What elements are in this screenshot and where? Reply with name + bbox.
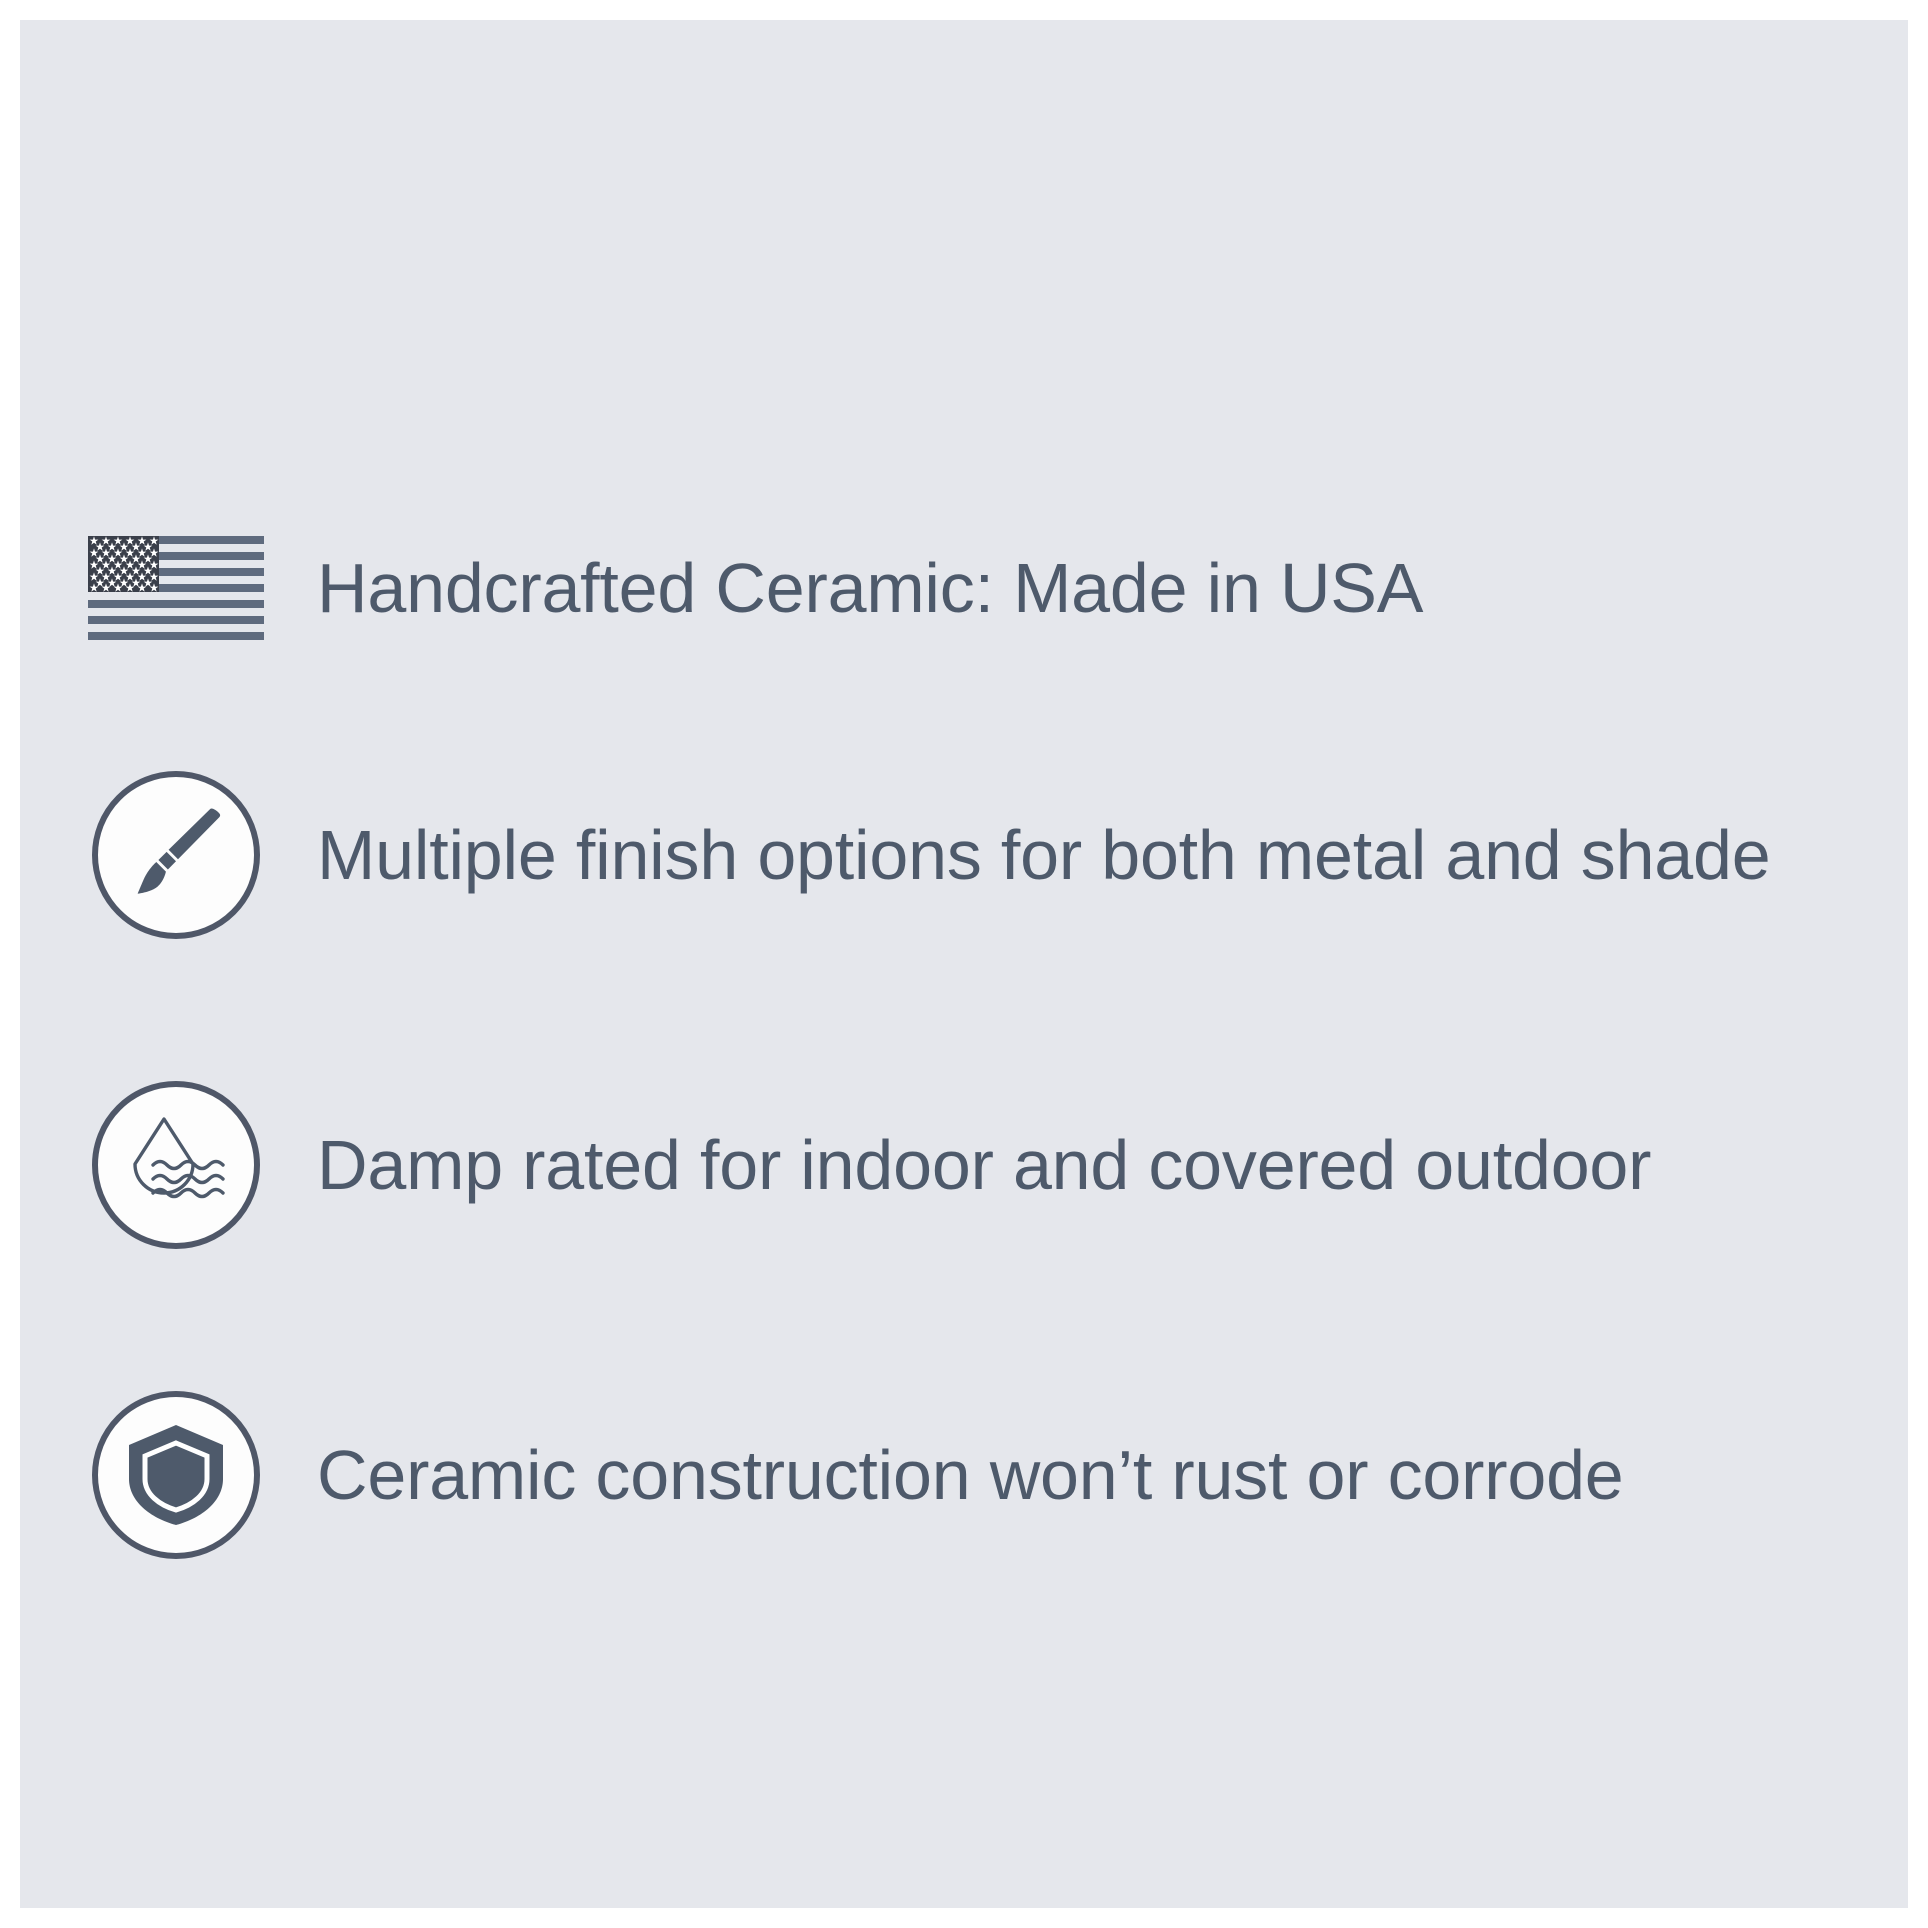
feature-row-made-in-usa: Handcrafted Ceramic: Made in USA: [20, 503, 1908, 673]
feature-row-finish-options: Multiple finish options for both metal a…: [20, 770, 1908, 940]
feature-row-no-rust: Ceramic construction won’t rust or corro…: [20, 1390, 1908, 1560]
paintbrush-icon: [92, 771, 260, 939]
icon-slot: [88, 1080, 264, 1250]
icon-slot: [88, 770, 264, 940]
icon-slot: [88, 1390, 264, 1560]
feature-list: Handcrafted Ceramic: Made in USA: [20, 20, 1908, 1908]
feature-row-damp-rated: Damp rated for indoor and covered outdoo…: [20, 1080, 1908, 1250]
feature-label: Damp rated for indoor and covered outdoo…: [317, 1130, 1651, 1200]
feature-graphic: Handcrafted Ceramic: Made in USA: [0, 0, 1928, 1928]
feature-panel: Handcrafted Ceramic: Made in USA: [20, 20, 1908, 1908]
icon-slot: [88, 503, 264, 673]
feature-label: Handcrafted Ceramic: Made in USA: [317, 553, 1423, 623]
usa-flag-icon: [88, 536, 264, 640]
shield-icon: [92, 1391, 260, 1559]
feature-label: Multiple finish options for both metal a…: [317, 820, 1771, 890]
water-droplet-waves-icon: [92, 1081, 260, 1249]
feature-label: Ceramic construction won’t rust or corro…: [317, 1440, 1624, 1510]
